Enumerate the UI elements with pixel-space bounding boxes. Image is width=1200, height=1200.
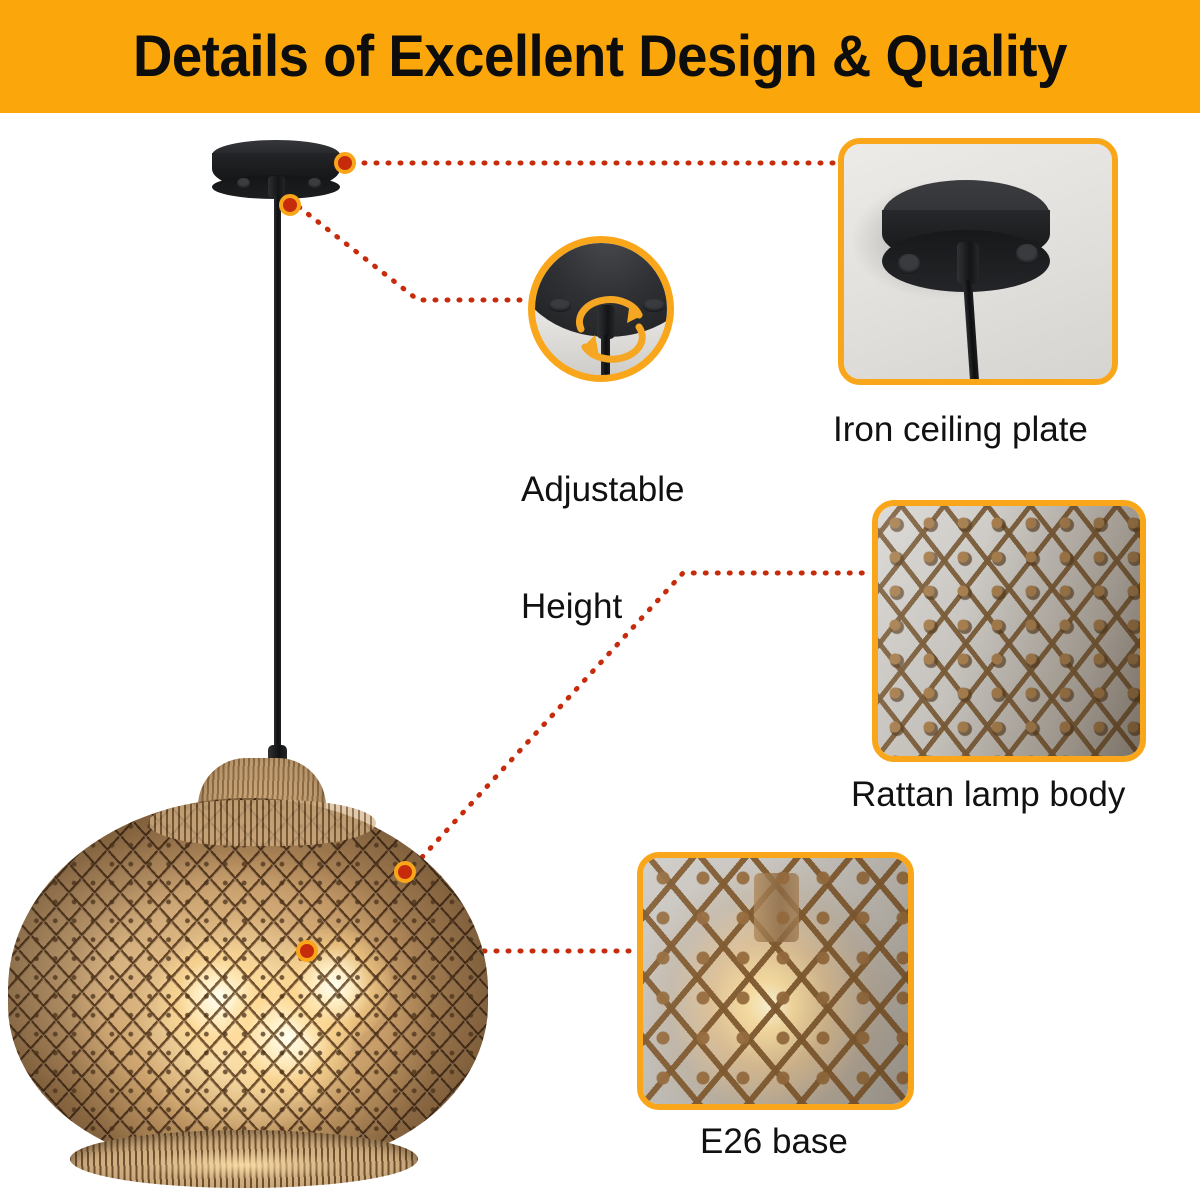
marker-shade-top[interactable] — [394, 861, 416, 883]
e26-shading — [643, 858, 908, 1104]
shade-shading — [8, 798, 488, 1168]
shade-globe — [8, 798, 488, 1168]
callout-rattan-lamp-body[interactable] — [872, 500, 1146, 762]
callout-label-line-2: Height — [521, 587, 761, 626]
callout-adjustable-height[interactable] — [528, 236, 674, 382]
shade-neck-band — [148, 800, 376, 846]
marker-shade-bulb[interactable] — [296, 940, 318, 962]
plate-screw-left — [237, 178, 250, 189]
rattan-shade — [8, 758, 488, 1188]
iron-plate-screw-left — [898, 254, 920, 274]
marker-cord[interactable] — [279, 194, 301, 216]
callout-label-rattan-lamp-body: Rattan lamp body — [851, 775, 1125, 814]
callout-label-adjustable-height: Adjustable Height — [521, 392, 761, 704]
callout-label-e26-base: E26 base — [700, 1122, 848, 1161]
marker-ceiling-plate[interactable] — [334, 152, 356, 174]
callout-label-iron-ceiling-plate: Iron ceiling plate — [833, 410, 1088, 449]
product-detail-infographic: Details of Excellent Design & Quality — [0, 0, 1200, 1200]
leader-adjustable-height — [299, 207, 529, 300]
shade-bottom-glow — [138, 1150, 348, 1180]
plate-screw-right — [308, 178, 321, 189]
rattan-shading — [878, 506, 1140, 756]
iron-plate-screw-right — [1016, 244, 1038, 264]
rotate-arrow-icon — [535, 243, 674, 382]
iron-plate-cord-grip — [957, 242, 979, 284]
callout-iron-ceiling-plate[interactable] — [838, 138, 1118, 385]
callout-label-line-1: Adjustable — [521, 470, 761, 509]
callout-e26-base[interactable] — [637, 852, 914, 1110]
power-cord — [274, 195, 281, 765]
